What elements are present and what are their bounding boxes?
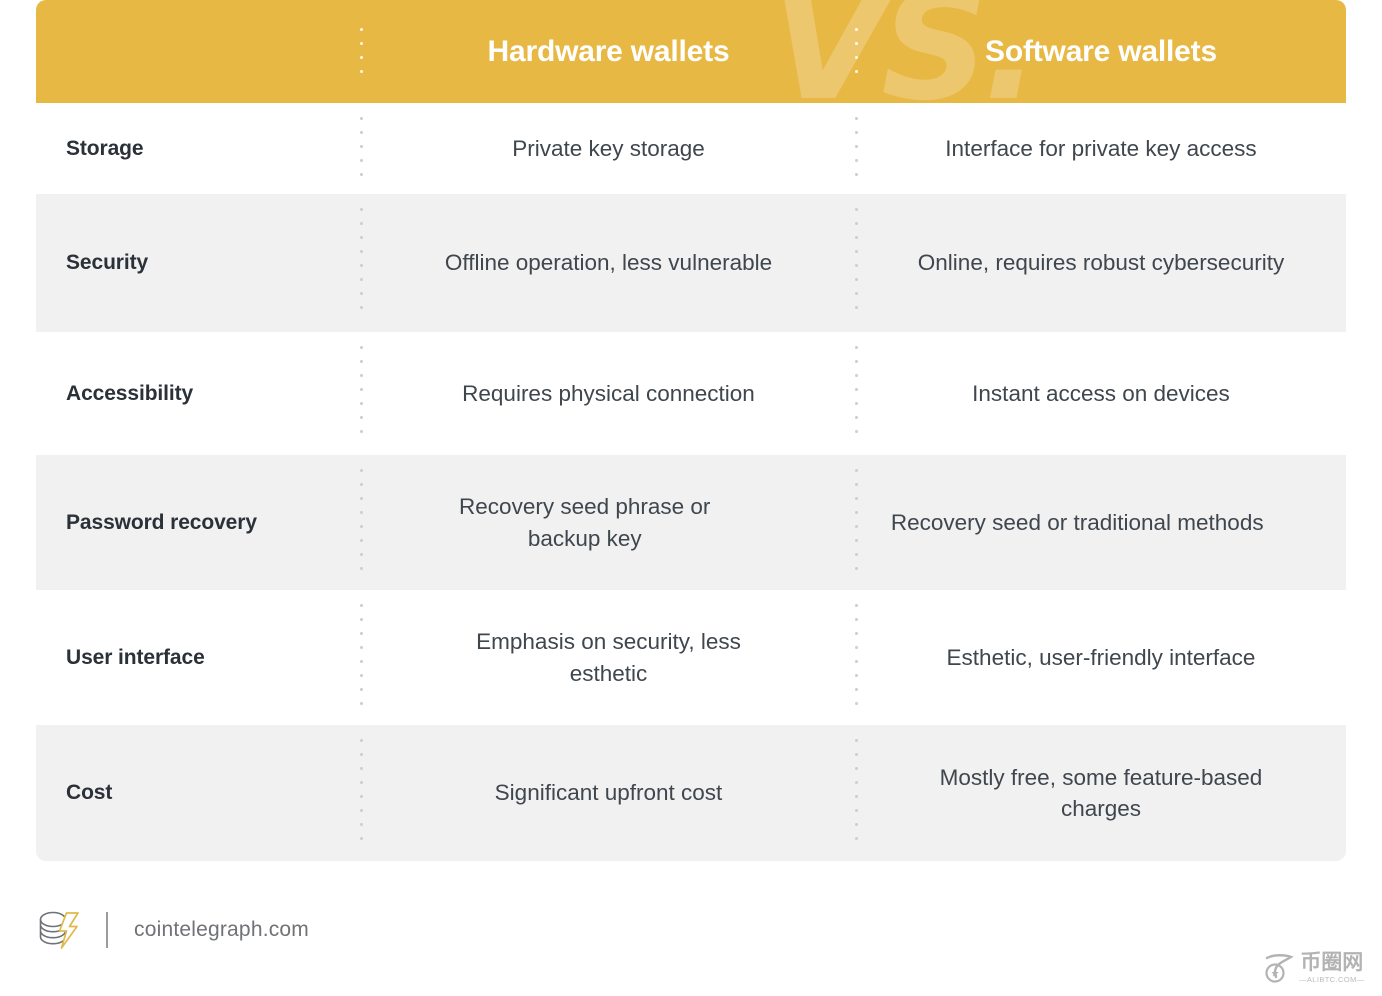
footer: cointelegraph.com (36, 902, 309, 958)
watermark-logo-icon (1262, 951, 1296, 985)
table-row: Cost Significant upfront cost Mostly fre… (36, 725, 1346, 861)
row-label-user-interface: User interface (36, 590, 361, 725)
cell-hardware-storage: Private key storage (361, 103, 856, 194)
row-label-cost: Cost (36, 725, 361, 861)
column-divider-dots-2 (855, 469, 858, 576)
cell-hardware-security: Offline operation, less vulnerable (361, 194, 856, 332)
cell-software-accessibility: Instant access on devices (856, 332, 1346, 455)
cell-hardware-user-interface: Emphasis on security, less esthetic (429, 590, 789, 725)
cointelegraph-logo-icon (36, 908, 82, 952)
cell-software-storage: Interface for private key access (856, 103, 1346, 194)
row-label-security: Security (36, 194, 361, 332)
table-row: Accessibility Requires physical connecti… (36, 332, 1346, 455)
comparison-table: VS. Hardware wallets Software wallets St… (36, 0, 1346, 861)
header-cell-label (36, 0, 361, 103)
cell-software-cost: Mostly free, some feature-based charges (881, 725, 1321, 861)
header-cell-software: Software wallets (856, 0, 1346, 103)
cell-software-user-interface: Esthetic, user-friendly interface (856, 590, 1346, 725)
footer-divider (106, 912, 108, 948)
header-cell-hardware: Hardware wallets (361, 0, 856, 103)
table-row: Password recovery Recovery seed phrase o… (36, 455, 1346, 590)
footer-url[interactable]: cointelegraph.com (134, 918, 309, 942)
cell-hardware-accessibility: Requires physical connection (361, 332, 856, 455)
cell-hardware-cost: Significant upfront cost (361, 725, 856, 861)
row-label-storage: Storage (36, 103, 361, 194)
table-row: User interface Emphasis on security, les… (36, 590, 1346, 725)
table-header-row: VS. Hardware wallets Software wallets (36, 0, 1346, 103)
cell-hardware-password-recovery: Recovery seed phrase or backup key (415, 455, 755, 590)
row-label-accessibility: Accessibility (36, 332, 361, 455)
cell-software-security: Online, requires robust cybersecurity (856, 194, 1346, 332)
watermark-subtitle: —ALIBTC.COM— (1299, 976, 1365, 984)
cell-software-password-recovery: Recovery seed or traditional methods (862, 455, 1292, 590)
watermark-text: 币圈网 (1300, 952, 1363, 973)
table-row: Storage Private key storage Interface fo… (36, 103, 1346, 194)
row-label-password-recovery: Password recovery (36, 455, 361, 590)
site-watermark: 币圈网 —ALIBTC.COM— (1262, 948, 1374, 988)
table-row: Security Offline operation, less vulnera… (36, 194, 1346, 332)
comparison-infographic: VS. Hardware wallets Software wallets St… (0, 0, 1382, 996)
